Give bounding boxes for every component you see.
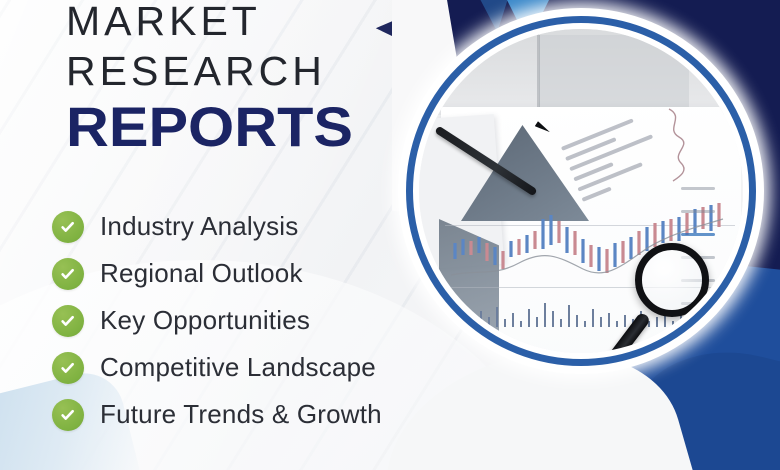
market-research-reports-banner: MARKET RESEARCH REPORTS Industry Analysi… <box>0 0 780 470</box>
title-line-reports: REPORTS <box>66 96 353 158</box>
check-circle-icon <box>52 399 84 431</box>
list-item: Industry Analysis <box>52 206 382 247</box>
magnifying-glass-icon <box>635 243 709 317</box>
feature-list: Industry Analysis Regional Outlook Key O… <box>52 206 382 441</box>
list-item: Competitive Landscape <box>52 347 382 388</box>
title-line-market: MARKET <box>66 0 337 46</box>
check-circle-icon <box>52 211 84 243</box>
photo-trend-squiggle <box>659 107 729 183</box>
list-item: Future Trends & Growth <box>52 394 382 435</box>
title-line-research: RESEARCH <box>66 46 337 96</box>
check-circle-icon <box>52 305 84 337</box>
market-chart-photo <box>419 29 743 353</box>
check-circle-icon <box>52 352 84 384</box>
page-title: MARKET RESEARCH REPORTS <box>66 0 337 158</box>
feature-label: Industry Analysis <box>100 211 299 242</box>
list-item: Regional Outlook <box>52 253 382 294</box>
list-item: Key Opportunities <box>52 300 382 341</box>
feature-label: Key Opportunities <box>100 305 310 336</box>
feature-label: Regional Outlook <box>100 258 303 289</box>
feature-label: Competitive Landscape <box>100 352 376 383</box>
feature-label: Future Trends & Growth <box>100 399 382 430</box>
check-circle-icon <box>52 258 84 290</box>
photo-upper-panel <box>539 35 689 111</box>
photo-upper-seam <box>537 29 539 115</box>
